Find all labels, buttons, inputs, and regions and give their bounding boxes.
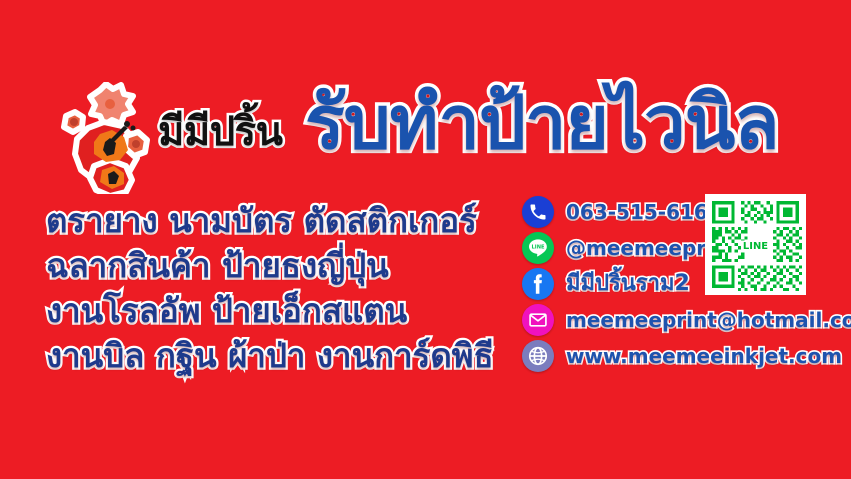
services-list: ตรายาง นามบัตร ตัดสติกเกอร์ ฉลากสินค้า ป…	[46, 198, 516, 378]
qr-line-label: LINE	[743, 241, 768, 252]
hibiscus-flower-logo	[48, 82, 156, 194]
website-url: www.meemeeinkjet.com	[566, 346, 842, 366]
page-title: รับทำป้ายไวนิล	[305, 86, 779, 160]
contact-row-website[interactable]: www.meemeeinkjet.com	[522, 338, 822, 373]
service-line: ฉลากสินค้า ป้ายธงญี่ปุ่น	[46, 243, 516, 288]
line-qr-code[interactable]: LINE	[705, 194, 806, 295]
contact-row-email[interactable]: meemeeprint@hotmail.com	[522, 302, 822, 337]
service-line: งานบิล กฐิน ผ้าป่า งานการ์ดพิธี	[46, 333, 516, 378]
facebook-icon	[522, 268, 554, 300]
advertising-banner: มีมีปริ้น รับทำป้ายไวนิล ตรายาง นามบัตร …	[0, 0, 851, 479]
svg-text:LINE: LINE	[532, 244, 545, 250]
email-address: meemeeprint@hotmail.com	[566, 310, 851, 330]
facebook-page-name: มีมีปริ้นราม2	[566, 273, 690, 295]
service-line: งานโรลอัพ ป้ายเอ็กสแตน	[46, 288, 516, 333]
brand-name-text: มีมีปริ้น	[158, 112, 282, 152]
globe-icon	[522, 340, 554, 372]
phone-icon	[522, 196, 554, 228]
brand-logo-block: มีมีปริ้น	[48, 82, 298, 194]
phone-number: 063-515-6161	[566, 202, 722, 222]
email-icon	[522, 304, 554, 336]
service-line: ตรายาง นามบัตร ตัดสติกเกอร์	[46, 198, 516, 243]
line-icon: LINE	[522, 232, 554, 264]
